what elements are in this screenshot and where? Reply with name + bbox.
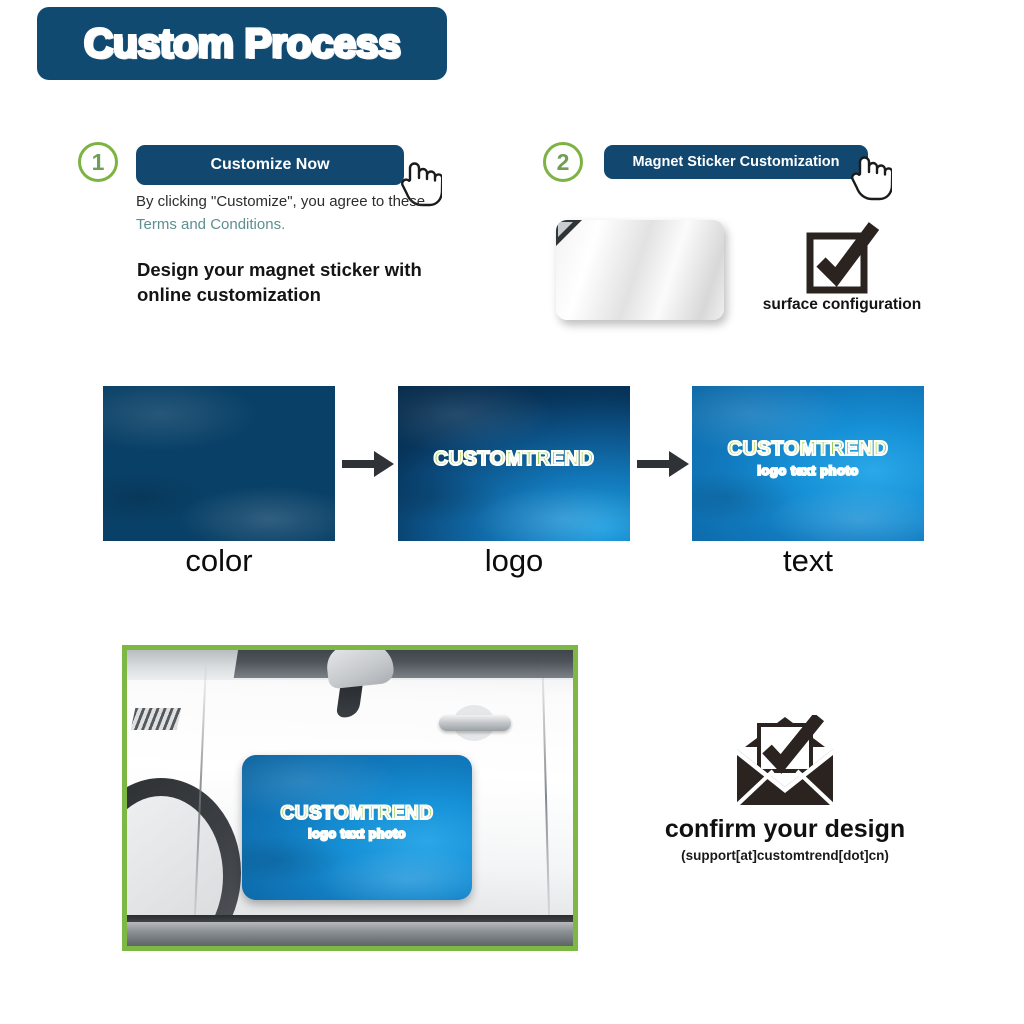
design-heading: Design your magnet sticker with online c… — [137, 258, 457, 307]
panel-color-preview — [103, 386, 335, 541]
panel-sheen — [103, 386, 335, 541]
panel-logo-brand-block: CUSTOMTREND — [398, 448, 630, 471]
brand-wordmark: CUSTOMTREND — [434, 448, 595, 471]
magnet-sticker-customization-label: Magnet Sticker Customization — [632, 154, 839, 170]
terms-prefix: By clicking "Customize", you agree to th… — [136, 193, 425, 210]
step-2-number-badge: 2 — [543, 142, 583, 182]
infographic-root: Custom Process 1 Customize Now By clicki… — [0, 0, 1024, 1024]
car-vent — [131, 708, 182, 730]
applied-magnet-sticker: CUSTOMTREND logo text photo — [242, 755, 472, 900]
step-1-number: 1 — [92, 149, 105, 176]
blank-magnet-sticker — [556, 220, 724, 320]
car-application-photo: CUSTOMTREND logo text photo — [122, 645, 578, 951]
applied-magnet-brand-block: CUSTOMTREND logo text photo — [242, 803, 472, 843]
panel-text-brand-block: CUSTOMTREND logo text photo — [692, 438, 924, 480]
checkbox-check-icon — [805, 222, 879, 298]
panel-label-text: text — [692, 543, 924, 579]
customize-now-button[interactable]: Customize Now — [136, 145, 404, 185]
peeling-corner-icon — [556, 220, 584, 248]
brand-wordmark: CUSTOMTREND — [281, 803, 434, 825]
hand-pointer-icon — [848, 152, 892, 202]
panel-logo-preview: CUSTOMTREND — [398, 386, 630, 541]
magnet-sticker-customization-button[interactable]: Magnet Sticker Customization — [604, 145, 868, 179]
confirm-design-heading: confirm your design — [640, 815, 930, 844]
car-scene: CUSTOMTREND logo text photo — [127, 650, 573, 946]
brand-wordmark: CUSTOMTREND — [728, 438, 889, 461]
panel-label-color: color — [103, 543, 335, 579]
step-2-number: 2 — [557, 149, 570, 176]
arrow-right-icon — [637, 449, 689, 479]
terms-and-conditions-link[interactable]: Terms and Conditions. — [136, 216, 285, 233]
customize-now-label: Customize Now — [210, 156, 329, 174]
step-1-number-badge: 1 — [78, 142, 118, 182]
surface-configuration-label: surface configuration — [752, 296, 932, 314]
page-title: Custom Process — [84, 20, 401, 67]
panel-label-logo: logo — [398, 543, 630, 579]
brand-subtitle: logo text photo — [757, 463, 858, 478]
car-window — [234, 650, 573, 678]
page-title-banner: Custom Process — [37, 7, 447, 80]
confirm-contact-email: (support[at]customtrend[dot]cn) — [640, 848, 930, 863]
car-rocker-panel — [127, 922, 573, 946]
terms-text: By clicking "Customize", you agree to th… — [136, 190, 436, 237]
panel-text-preview: CUSTOMTREND logo text photo — [692, 386, 924, 541]
brand-subtitle: logo text photo — [308, 827, 406, 841]
envelope-check-icon — [733, 715, 837, 807]
arrow-right-icon — [342, 449, 394, 479]
car-door-handle — [439, 715, 511, 731]
